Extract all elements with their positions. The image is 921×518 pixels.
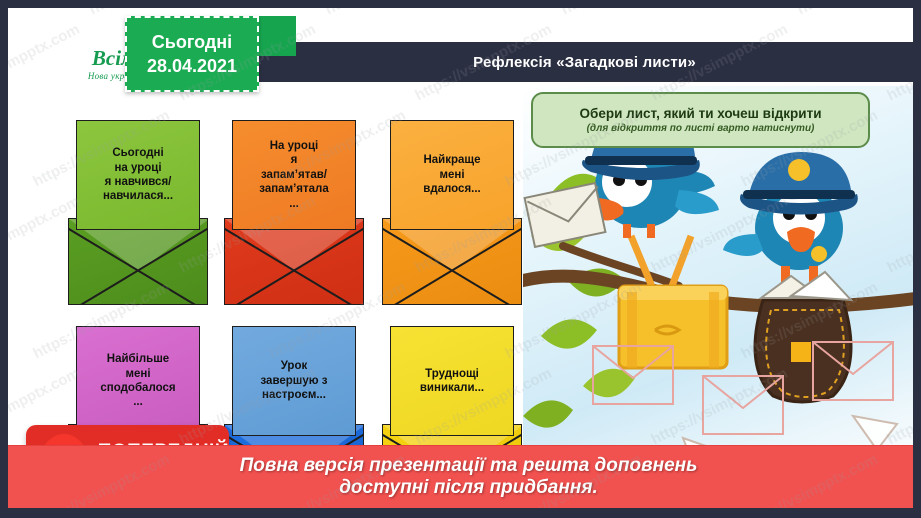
envelope-1-note[interactable]: Сьогодні на уроці я навчився/ навчилася.…	[76, 120, 200, 230]
instruction-callout: Обери лист, який ти хочеш відкрити (для …	[531, 92, 870, 148]
envelope-fold-line	[390, 219, 522, 305]
date-badge: Сьогодні 28.04.2021	[125, 16, 259, 92]
purchase-banner-line2: доступні після придбання.	[339, 477, 598, 499]
envelope-6-note[interactable]: Труднощі виникали...	[390, 326, 514, 436]
watermark-text: https://vsimpptx.com	[794, 8, 913, 18]
envelope-3[interactable]: Найкраще мені вдалося...	[382, 120, 522, 305]
envelope-fold-line	[76, 219, 208, 305]
watermark-text: https://vsimpptx.com	[558, 8, 700, 18]
envelope-fold-line	[224, 219, 356, 305]
envelope-2-body[interactable]	[224, 218, 364, 305]
envelope-3-note[interactable]: Найкраще мені вдалося...	[390, 120, 514, 230]
envelope-4-note[interactable]: Найбільше мені сподобалося ...	[76, 326, 200, 436]
envelope-3-body[interactable]	[382, 218, 522, 305]
date-badge-label: Сьогодні	[152, 30, 232, 54]
background-outline-envelopes	[583, 336, 903, 456]
envelope-1-body[interactable]	[68, 218, 208, 305]
page-title: Рефлексія «Загадкові листи»	[473, 54, 696, 71]
envelope-fold-line	[382, 219, 514, 305]
callout-subtitle: (для відкриття по листі варто натиснути)	[587, 123, 815, 134]
envelope-fold-line	[232, 219, 364, 305]
envelope-2-note[interactable]: На уроці я запам’ятав/ запам’ятала ...	[232, 120, 356, 230]
slide-root: Рефлексія «Загадкові листи» Всім.pptx Но…	[0, 0, 921, 518]
slide-canvas: Рефлексія «Загадкові листи» Всім.pptx Но…	[8, 8, 913, 508]
purchase-banner: Повна версія презентації та решта доповн…	[8, 445, 913, 508]
purchase-banner-line1: Повна версія презентації та решта доповн…	[240, 455, 698, 477]
date-badge-value: 28.04.2021	[147, 54, 237, 78]
letter-in-beak	[525, 183, 606, 247]
envelope-fold-line	[68, 219, 200, 305]
envelope-5-note[interactable]: Урок завершую з настроєм...	[232, 326, 356, 436]
title-bar: Рефлексія «Загадкові листи»	[256, 42, 913, 82]
watermark-text: https://vsimpptx.com	[322, 8, 464, 18]
envelope-1[interactable]: Сьогодні на уроці я навчився/ навчилася.…	[68, 120, 208, 305]
callout-title: Обери лист, який ти хочеш відкрити	[579, 106, 821, 121]
envelope-2[interactable]: На уроці я запам’ятав/ запам’ятала ...	[224, 120, 364, 305]
